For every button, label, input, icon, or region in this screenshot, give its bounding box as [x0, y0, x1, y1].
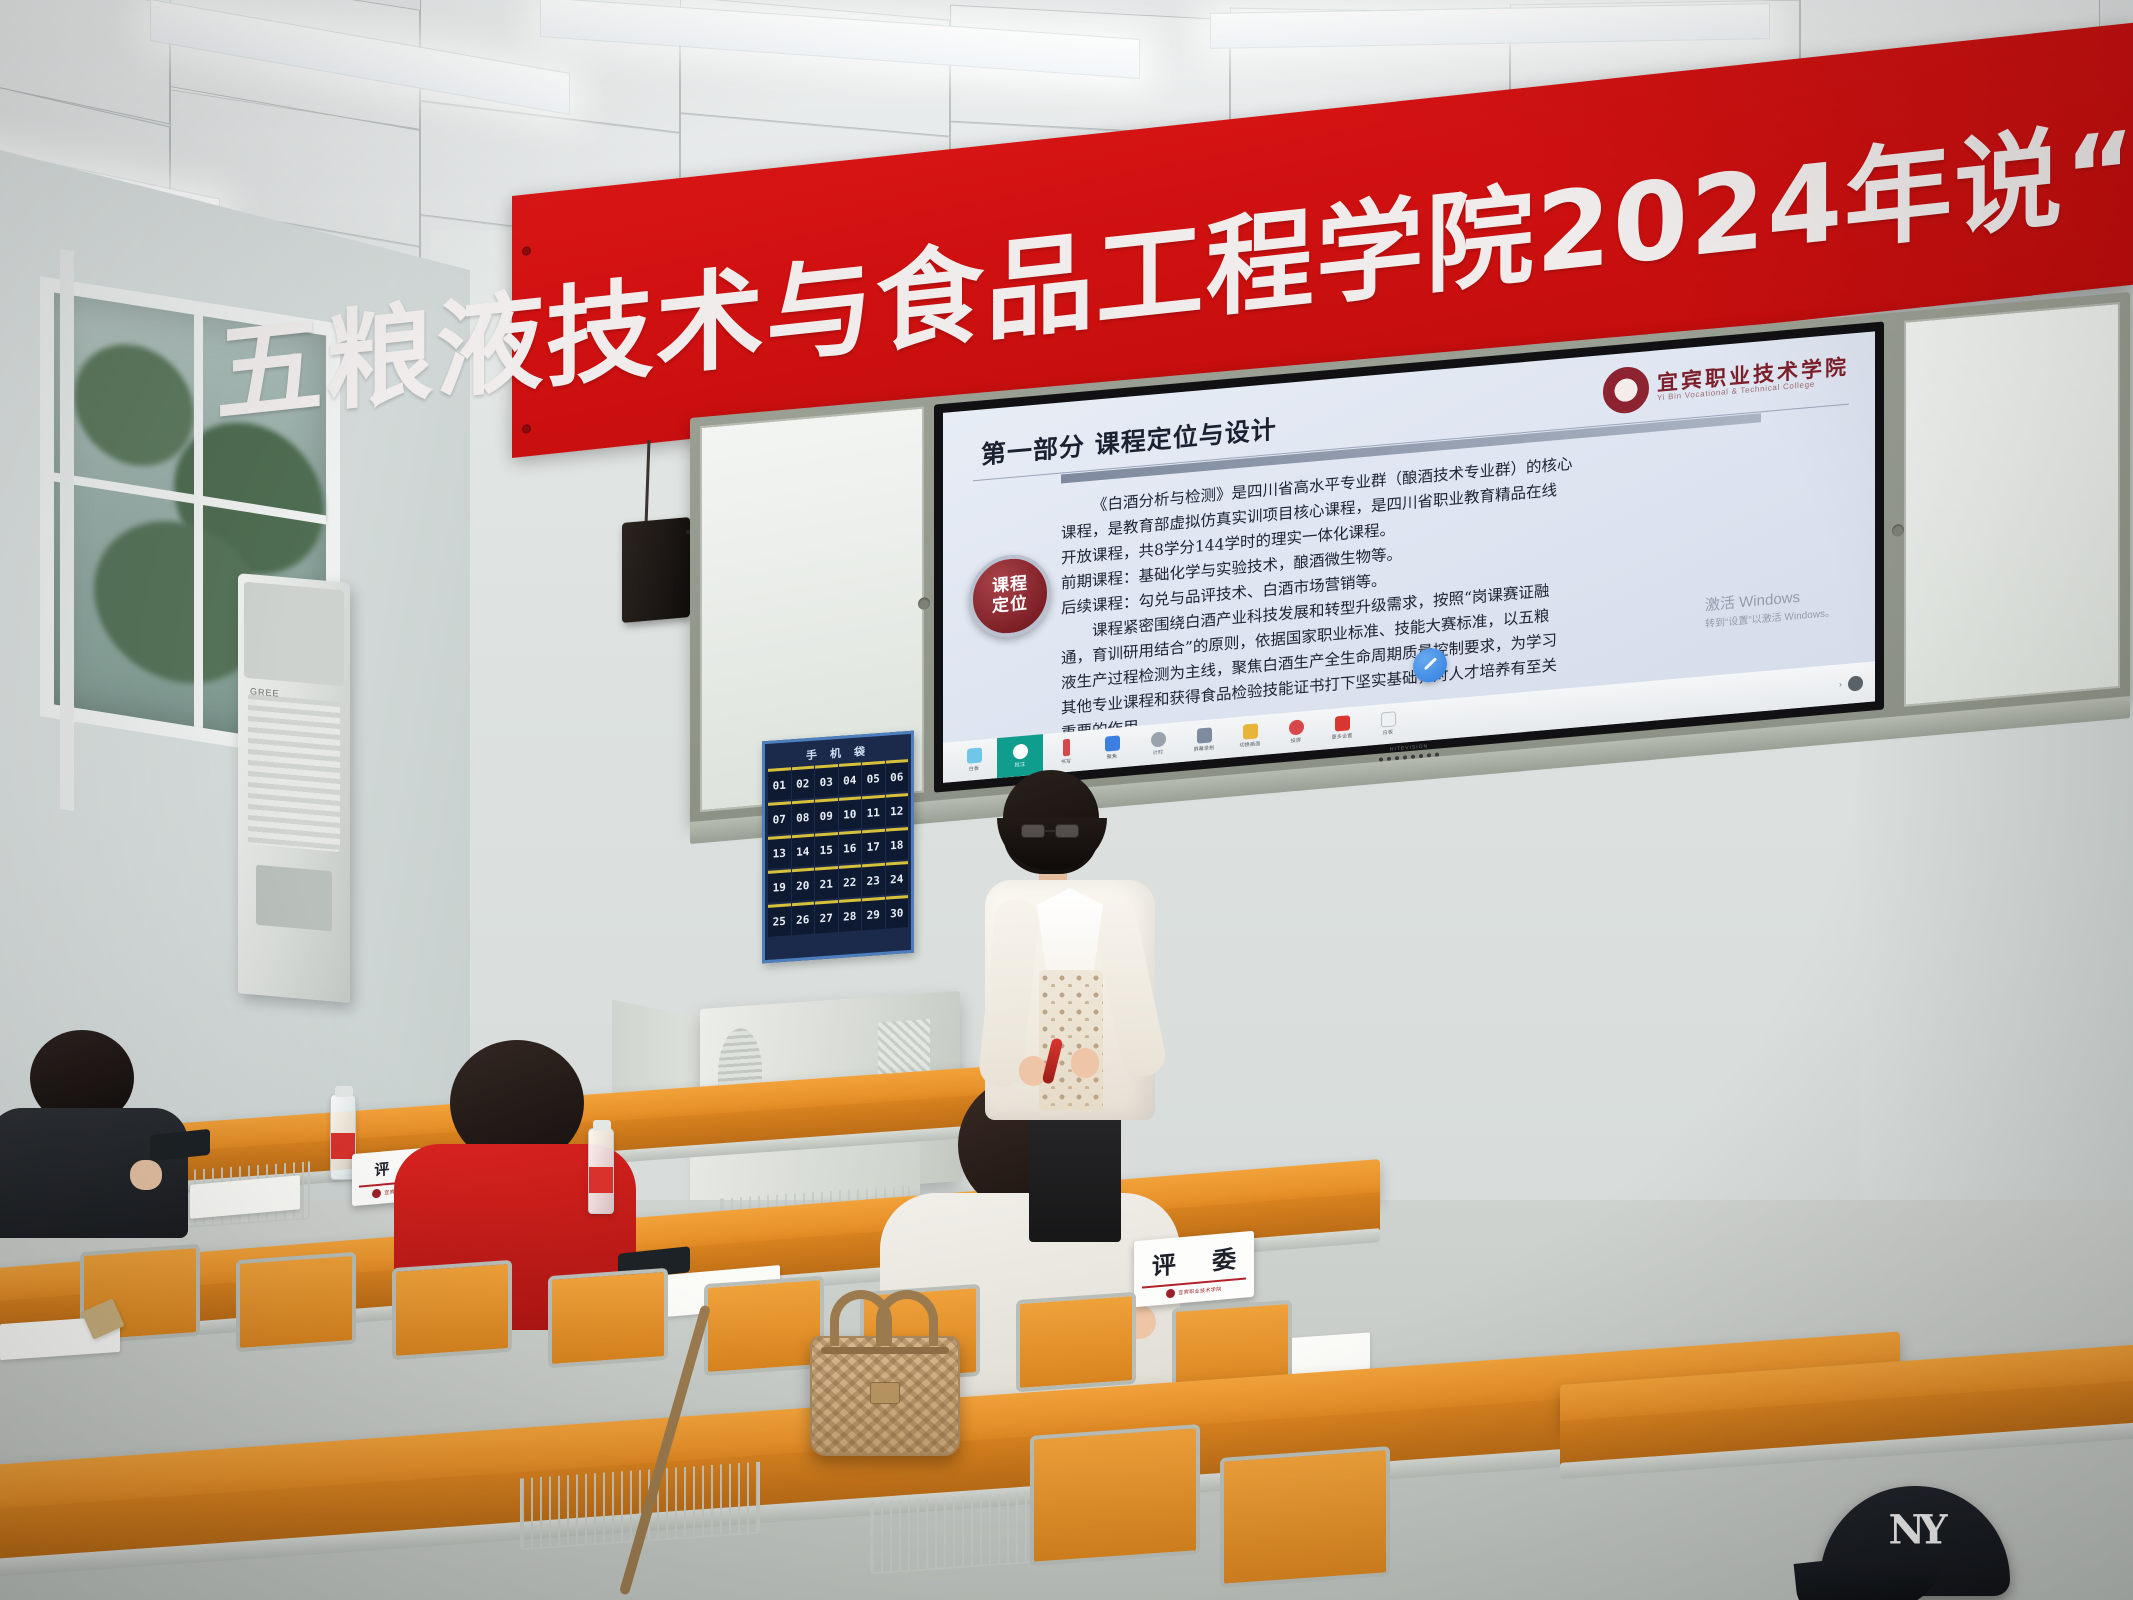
pocket-cell[interactable]: 06 — [886, 759, 909, 793]
taskbar-label: 白板 — [1383, 728, 1393, 736]
pocket-cell[interactable]: 25 — [768, 903, 791, 937]
switch-source-icon — [1243, 723, 1258, 739]
seated-person-red — [400, 1040, 620, 1270]
chair-back[interactable] — [548, 1268, 668, 1368]
presenter-hair — [1003, 770, 1099, 874]
interactive-flat-panel[interactable]: 第一部分 课程定位与设计 宜宾职业技术学院 Yi Bin Vocational … — [934, 322, 1884, 793]
screen-record-icon — [1197, 727, 1212, 743]
bottle-cap — [593, 1120, 611, 1131]
pocket-cell[interactable]: 10 — [839, 796, 862, 830]
pocket-cell[interactable]: 24 — [886, 861, 909, 895]
college-logo: 宜宾职业技术学院 Yi Bin Vocational & Technical C… — [1603, 348, 1849, 416]
pocket-cell[interactable]: 18 — [886, 827, 909, 861]
pocket-cell[interactable]: 13 — [768, 835, 791, 869]
taskbar-label: 白板 — [969, 765, 979, 773]
chair-back-front[interactable] — [1030, 1424, 1200, 1566]
classroom-photo: 五粮液技术与食品工程学院2024年说“课程” 第一部分 课程定位与设计 宜宾职业… — [0, 0, 2133, 1600]
taskbar-item[interactable]: 屏幕录制 — [1181, 718, 1227, 762]
taskbar-right-group[interactable]: › — [1839, 675, 1867, 692]
phone-pocket-chart: 手 机 袋 0102030405060708091011121314151617… — [762, 731, 914, 964]
seal-icon — [1166, 1288, 1175, 1298]
window-mullion-vertical — [194, 315, 203, 728]
taskbar-label: 更多设置 — [1332, 732, 1353, 741]
pocket-cell[interactable]: 09 — [815, 798, 838, 832]
seal-icon — [372, 1188, 381, 1198]
presentation-slide: 第一部分 课程定位与设计 宜宾职业技术学院 Yi Bin Vocational … — [943, 331, 1875, 783]
timer-icon — [1151, 731, 1166, 747]
handbag-handle — [876, 1290, 938, 1346]
pocket-cell[interactable]: 21 — [815, 866, 838, 900]
pocket-cell[interactable]: 03 — [815, 764, 838, 798]
pocket-cell[interactable]: 02 — [792, 766, 815, 800]
pocket-cell[interactable]: 19 — [768, 869, 791, 903]
pocket-cell[interactable]: 30 — [886, 895, 909, 929]
taskbar-item[interactable]: 计时 — [1135, 722, 1181, 766]
taskbar-label: 聚焦 — [1107, 753, 1117, 761]
handbag-tag — [870, 1382, 900, 1404]
pocket-grid: 0102030405060708091011121314151617181920… — [768, 759, 908, 937]
bottle-label — [589, 1167, 613, 1193]
nameplate-logo-caption: 宜宾职业技术学院 — [1178, 1285, 1221, 1296]
taskbar-label: 书写 — [1061, 758, 1071, 766]
taskbar-item[interactable]: 书写 — [1043, 730, 1089, 774]
pocket-cell[interactable]: 15 — [815, 832, 838, 866]
nameplate-text: 评 委 — [1138, 1238, 1250, 1283]
air-conditioner[interactable]: GREE — [238, 573, 350, 1003]
pen-icon — [1063, 739, 1070, 757]
pocket-cell[interactable]: 08 — [792, 800, 815, 834]
pocket-cell[interactable]: 16 — [839, 830, 862, 864]
presenter-right-hand — [1071, 1048, 1099, 1078]
pocket-cell[interactable]: 28 — [839, 898, 862, 932]
pocket-cell[interactable]: 23 — [862, 863, 885, 897]
water-bottle[interactable] — [588, 1128, 614, 1214]
taskbar-item[interactable]: 聚焦 — [1089, 726, 1135, 770]
wall-speaker — [622, 517, 690, 623]
taskbar-item[interactable]: 更多设置 — [1319, 706, 1365, 750]
taskbar-label: 投屏 — [1291, 737, 1301, 745]
whiteboard-icon — [967, 747, 982, 763]
pocket-cell[interactable]: 27 — [815, 900, 838, 934]
whiteboard-right-wing[interactable] — [1904, 302, 2120, 707]
pocket-cell[interactable]: 07 — [768, 801, 791, 835]
pocket-cell[interactable]: 14 — [792, 834, 815, 868]
pocket-cell[interactable]: 29 — [862, 897, 885, 931]
pocket-cell[interactable]: 12 — [886, 793, 909, 827]
chair-back-front[interactable] — [1220, 1446, 1390, 1588]
pocket-cell[interactable]: 17 — [862, 829, 885, 863]
chair-back[interactable] — [392, 1260, 512, 1360]
presenter-legs — [1029, 1110, 1121, 1242]
pocket-cell[interactable]: 04 — [839, 762, 862, 796]
more-settings-icon — [1335, 715, 1350, 731]
nameplate-logo: 宜宾职业技术学院 — [1166, 1284, 1221, 1298]
taskbar-label: 计时 — [1153, 749, 1163, 757]
taskbar-label: 屏幕录制 — [1194, 744, 1215, 753]
tree-foliage — [74, 336, 194, 475]
presenter-blouse-pattern — [1039, 970, 1103, 1110]
presenter-left-hand — [1019, 1056, 1047, 1086]
course-position-badge: 课程 定位 — [969, 551, 1051, 640]
settings-gear-icon[interactable] — [1848, 675, 1863, 691]
chair-back[interactable] — [1016, 1292, 1136, 1392]
badge-line-2: 定位 — [992, 594, 1028, 617]
person-hand — [130, 1160, 162, 1190]
bottle-cap — [335, 1086, 353, 1097]
pocket-cell[interactable]: 01 — [768, 767, 791, 801]
pocket-cell[interactable]: 26 — [792, 902, 815, 936]
chevron-right-icon[interactable]: › — [1839, 679, 1842, 689]
handbag[interactable] — [810, 1336, 960, 1456]
college-seal-icon — [1603, 365, 1649, 415]
seated-person-back-left — [0, 1030, 190, 1190]
cap-logo-text: NY — [1888, 1507, 1941, 1554]
window-frame-post — [60, 249, 74, 811]
chair-back[interactable] — [236, 1252, 356, 1352]
cast-icon — [1289, 719, 1304, 735]
taskbar-item[interactable]: 白板 — [1365, 702, 1411, 746]
nameplate-judge-center: 评 委 宜宾职业技术学院 — [1134, 1231, 1254, 1307]
taskbar-item[interactable]: 投屏 — [1273, 710, 1319, 754]
ac-top-panel — [244, 582, 344, 687]
handbag-zipper — [821, 1347, 950, 1354]
pocket-cell[interactable]: 22 — [839, 864, 862, 898]
pocket-cell[interactable]: 20 — [792, 868, 815, 902]
taskbar-label: 切换画面 — [1240, 740, 1261, 749]
annotate-icon — [1013, 743, 1028, 759]
spotlight-icon — [1105, 735, 1120, 751]
pocket-cell[interactable]: 05 — [862, 761, 885, 795]
chair-back[interactable] — [704, 1276, 824, 1376]
taskbar-label: 批注 — [1015, 761, 1025, 769]
glasses-icon — [1021, 824, 1079, 839]
board-icon — [1381, 711, 1396, 727]
ac-control-panel[interactable] — [256, 865, 332, 932]
taskbar-item[interactable]: 切换画面 — [1227, 714, 1273, 758]
ac-vent-louvers — [248, 694, 340, 852]
pocket-cell[interactable]: 11 — [862, 795, 885, 829]
